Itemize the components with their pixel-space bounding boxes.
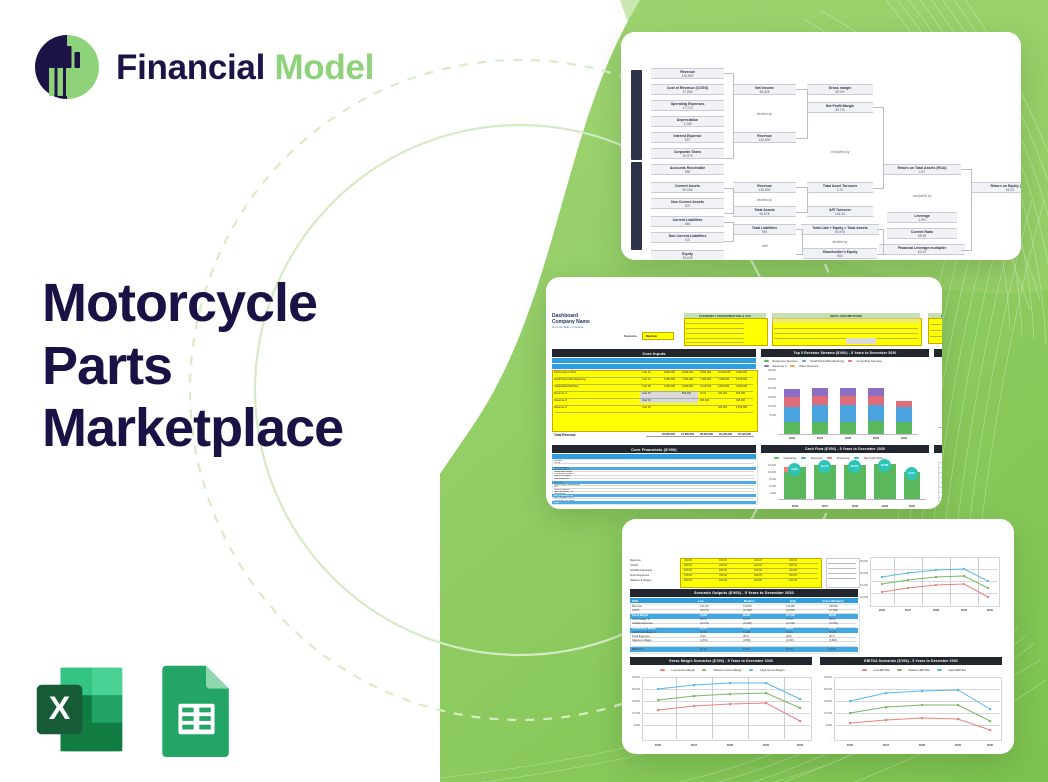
panel-title-core-financials: Core Financials ($'000): [552, 445, 756, 453]
legend-cash-flow: Operating Investing Financing Net Cash F…: [774, 456, 883, 460]
pie-chart-bars-logo-icon: [32, 32, 102, 102]
node-accounts-receivable: Accounts Receivable 948: [651, 164, 724, 175]
sheet-cell: 100.0%: [789, 564, 797, 567]
node-total-assets: Total Assets 50,576: [733, 206, 796, 217]
dupont-tree: Income Statement ($'000) Balance Sheet (…: [629, 64, 1015, 246]
node-gross-margin: Gross margin 65.0%: [807, 84, 873, 95]
sheet-cell: 57,188: [829, 631, 836, 634]
sheet-cell: 100.0%: [719, 569, 727, 572]
sheet-cell: (13,863): [829, 622, 838, 625]
sheet-cell: 75,700: [829, 644, 836, 647]
sheet-cell: 100.0%: [754, 559, 762, 562]
sheet-cell: (3,898): [829, 639, 837, 642]
sheet-cell: 100.0%: [754, 564, 762, 567]
sheet-cell: 75.4%: [786, 618, 793, 621]
sheet-cell: 8,500,000: [664, 371, 675, 374]
sheet-cell: 4,620,000: [736, 385, 747, 388]
sheet-cell: 57,710: [700, 627, 707, 630]
scenario-top-lines: [870, 557, 998, 605]
sheet-cell: 7,350,000: [682, 378, 693, 381]
legend-top5-1: Enterprise Services Small Parts Manufact…: [764, 359, 882, 363]
core-inputs-total-label: Total Revenue: [554, 433, 576, 437]
sheet-cell: (46,172): [700, 609, 709, 612]
dashboard-subtitle: Company Name: [552, 319, 590, 325]
sheet-cell: Revenue: [632, 605, 642, 608]
op-multiplied-by-1: multiplied by: [807, 150, 873, 154]
sheet-cell: 52.0%: [829, 648, 836, 651]
sheet-cell: (3,180): [786, 639, 794, 642]
sheet-cell: 9,000,000: [682, 371, 693, 374]
sheet-cell: Revenue 6: [554, 406, 567, 409]
connector-mid2: [796, 187, 808, 213]
sheet-cell: Performance Parts: [554, 371, 576, 374]
title-line-2: Parts: [42, 335, 442, 398]
sheet-cell: (837): [743, 635, 749, 638]
op-divided-by-2: divided by: [733, 198, 796, 202]
sheet-cell: 107,100: [786, 614, 795, 617]
sheet-cell: 65.0%: [829, 618, 836, 621]
sheet-cell: 184,100: [718, 392, 727, 395]
node-roe: Return on Equity (ROE) 61.03: [971, 182, 1021, 193]
panel-title-core-inputs: Core Inputs: [552, 349, 756, 357]
panel-title-payback: Investment Payback Chart ($'000) - 5 Yea…: [934, 445, 942, 453]
sheet-cell: 91,830: [786, 644, 793, 647]
sheet-cell: 88,920: [829, 614, 836, 617]
connector-assets: [724, 188, 734, 214]
sheet-cell: Fixed Expenses: [632, 635, 650, 638]
panel-title-profitability: Profitability ($'000) - 5 Years to Decem…: [934, 349, 942, 357]
sheet-cell: Collectibles/Vehicles: [554, 385, 579, 388]
sheet-cell: 100.0%: [789, 579, 797, 582]
connector-liab: [724, 222, 734, 242]
sheet-cell: 5,970,000: [736, 378, 747, 381]
dashboard-toc-link[interactable]: Go to the Table of Contents: [552, 326, 584, 329]
sheet-cell: 9,100: [700, 392, 706, 395]
sheet-cell: (47,880): [829, 609, 838, 612]
node-leverage: Leverage 1.9%: [887, 212, 957, 223]
sheet-cell: 100.0%: [684, 564, 692, 567]
sheet-cell: 75,700: [743, 644, 750, 647]
connector-right: [961, 169, 972, 251]
sheet-cell: 25,120,000: [738, 433, 751, 436]
dashboard-screenshot[interactable]: Dashboard Company Name Go to the Table o…: [546, 277, 942, 509]
legend-ebitda: Low EBITDA Medium EBITDA High EBITDA: [862, 668, 966, 672]
node-operating-expenses: Operating Expenses 17,714: [651, 100, 724, 111]
sheet-cell: 1,672,000: [736, 406, 747, 409]
sheet-cell: Year 06: [642, 385, 651, 388]
sheet-cell: EBITDA %: [632, 648, 644, 651]
core-inputs-year-header: [552, 358, 756, 363]
title-line-3: Marketplace: [42, 397, 442, 460]
brand-name-part2: Model: [274, 48, 374, 87]
profitability-percent-line: [934, 365, 942, 385]
sheet-cell: 100.0%: [754, 574, 762, 577]
node-total-liabilities: Total Liabilities 949: [733, 224, 796, 235]
sheet-cell: Small Parts Manufacturing: [554, 378, 586, 381]
sheet-cell: 100.0%: [684, 569, 692, 572]
legend-top5-2: Revenue 4 Other Revenue: [764, 364, 819, 368]
file-format-icons: X: [32, 662, 244, 757]
brand-name: Financial Model: [116, 50, 374, 85]
op-add: Add: [733, 244, 796, 248]
brand-name-part1: Financial: [116, 48, 274, 87]
sheet-cell: 88,100: [786, 627, 793, 630]
sheet-cell: 9,500,000: [700, 371, 711, 374]
sheet-cell: (13,940): [786, 622, 795, 625]
op-divided-by-3: divided by: [807, 240, 873, 244]
sheet-cell: 131,130: [700, 605, 709, 608]
sheet-cell: (47,880): [743, 609, 752, 612]
sheet-cell: 106,100: [700, 399, 709, 402]
node-interest-expense: Interest Expense 537: [651, 132, 724, 143]
sheet-cell: 100.0%: [719, 574, 727, 577]
sheet-cell: Contribution Margin: [632, 627, 656, 630]
sheet-cell: 136,800: [743, 605, 752, 608]
sheet-cell: 9,000,000: [736, 371, 747, 374]
legend-gross-margin: Low Gross Margin Medium Gross Margin Hig…: [660, 668, 785, 672]
poster-canvas: Financial Model Motorcycle Parts Marketp…: [0, 0, 1048, 782]
node-non-current-assets: Non Current Assets 570: [651, 198, 724, 209]
sheet-cell: 10,000,000: [718, 371, 731, 374]
sheet-cell: Cash: [554, 502, 559, 504]
panel-title-ebitda-scenarios: EBITDA Scenarios ($'000) - 5 Years to De…: [820, 657, 1002, 665]
connector-mid3: [796, 229, 803, 255]
op-multiplied-by-2: multiplied by: [883, 194, 961, 198]
sheet-cell: 28,200,000: [700, 433, 713, 436]
sheet-cell: 142,380: [786, 605, 795, 608]
sheet-cell: 40.1%: [700, 648, 707, 651]
sheet-cell: 27,900,000: [681, 433, 694, 436]
microsoft-excel-icon[interactable]: X: [32, 662, 127, 757]
sheet-cell: 29,100,000: [719, 433, 732, 436]
sheet-cell: 75,700: [829, 627, 836, 630]
node-current-assets: Current Assets 50,006: [651, 182, 724, 193]
sheet-cell: 52,305: [700, 644, 707, 647]
sheet-cell: 100.0%: [789, 559, 797, 562]
sheet-cell: 72,804: [700, 614, 707, 617]
sheet-cell: (13,863): [743, 622, 752, 625]
node-financial-leverage-multiplier: Financial Leverage multiplier 63.22: [879, 244, 965, 255]
sheet-cell: 100.0%: [719, 579, 727, 582]
node-equity: Equity 49,628: [651, 250, 724, 260]
node-current-liabilities: Current Liabilities 848: [651, 216, 724, 227]
sheet-cell: 7,290,000: [718, 378, 729, 381]
sheet-cell: 320,000: [718, 406, 727, 409]
sheet-cell: 100.0%: [684, 574, 692, 577]
sheet-cell: 75,700: [743, 627, 750, 630]
sheet-cell: 502,000: [682, 392, 691, 395]
band-balance-sheet: Balance Sheet ($'000): [631, 162, 642, 250]
node-total-liab-equity: Total Liab + Equity = Total Assets 50,57…: [801, 224, 879, 235]
sheet-cell: 88,920: [743, 614, 750, 617]
core-financials-header-row: [552, 454, 756, 459]
sheet-cell: 66,100: [786, 631, 793, 634]
sheet-cell: 100.0%: [684, 579, 692, 582]
brand-logo: Financial Model: [32, 32, 374, 102]
sheet-cell: (837): [829, 635, 835, 638]
connector-ratio2: [877, 229, 884, 255]
sheet-cell: Revenue 4: [554, 392, 567, 395]
node-roa: Return on Total Assets (ROA) 0.97: [883, 164, 961, 175]
sheet-cell: Contribution Margin %: [632, 631, 657, 634]
band-income-statement: Income Statement ($'000): [631, 70, 642, 160]
node-revenue-mid2: Revenue 136,800: [733, 182, 796, 193]
svg-text:X: X: [49, 690, 71, 726]
sheet-cell: (700): [700, 635, 706, 638]
connector-ratio1: [873, 107, 884, 189]
page-title: Motorcycle Parts Marketplace: [42, 272, 442, 460]
sheet-cell: Gross Margin: [632, 614, 648, 617]
connector-income: [724, 73, 734, 159]
node-corporate-taxes: Corporate Taxes 20,576: [651, 148, 724, 159]
sheet-cell: 136,800: [829, 605, 838, 608]
node-revenue-mid: Revenue 136,800: [733, 132, 796, 143]
sheet-cell: Revenue 5: [554, 399, 567, 402]
node-net-income: Net Income 48,828: [733, 84, 796, 95]
sheet-cell: Year 10: [642, 406, 651, 409]
panel-title-top5: Top 5 Revenue Streams ($'000) - 5 Years …: [761, 349, 929, 357]
node-non-current-liabilities: Non Current Liabilities 101: [651, 232, 724, 243]
sheet-cell: 58.2%: [700, 618, 707, 621]
node-depreciation: Depreciation 1,265: [651, 116, 724, 127]
working-capital-values[interactable]: [928, 318, 942, 344]
sheet-cell: 184,000: [736, 392, 745, 395]
op-divided-by-1: divided by: [733, 112, 796, 116]
title-line-1: Motorcycle: [42, 272, 442, 335]
scenario-analysis-screenshot[interactable]: Revenue COGS Variable Expenses Fixed Exp…: [622, 519, 1014, 754]
sheet-cell: Year 10: [642, 371, 651, 374]
node-revenue: Revenue 136,800: [651, 68, 724, 79]
node-ar-turnover: A/R Turnover 144.24: [807, 206, 873, 217]
node-net-profit-margin: Net Profit Margin 35.7%: [807, 102, 873, 113]
sheet-cell: 4,560,000: [664, 385, 675, 388]
sheet-cell: 4,060,000: [682, 385, 693, 388]
node-current-ratio: Current Ratio 58.98: [887, 228, 957, 239]
sheet-cell: 57,188: [743, 631, 750, 634]
sheet-cell: (4,849): [700, 639, 708, 642]
node-cogs: Cost of Revenue (COGS) 47,880: [651, 84, 724, 95]
panel-title-cash-flow: Cash Flow ($'000) - 5 Years to December …: [761, 445, 929, 453]
sheet-cell: Variable Expenses: [632, 622, 653, 625]
ebitda-lines: [834, 677, 1000, 739]
scenario-value: Medium: [646, 334, 657, 338]
payback-line: [938, 462, 942, 500]
sheet-cell: 65.0%: [743, 618, 750, 621]
sheet-cell: Salaries & Wages: [632, 639, 652, 642]
sheet-cell: 67.0%: [786, 648, 793, 651]
dupont-analysis-screenshot[interactable]: Income Statement ($'000) Balance Sheet (…: [621, 32, 1021, 260]
node-shareholders-equity: Shareholder's Equity 800: [803, 248, 877, 259]
scenario-label: Scenario: [624, 334, 637, 338]
sheet-cell: 52.0%: [743, 648, 750, 651]
sheet-cell: 26,000,000: [662, 433, 675, 436]
connector-mid1: [796, 89, 808, 139]
gross-margin-lines: [642, 677, 810, 739]
sheet-cell: COGS: [632, 609, 639, 612]
sheet-cell: (49,555): [786, 609, 795, 612]
sheet-cell: (13,130): [700, 622, 709, 625]
sheet-cell: 5,950,000: [664, 378, 675, 381]
sheet-cell: Gross Margin %: [632, 618, 650, 621]
sheet-cell: 100.0%: [789, 569, 797, 572]
core-inputs-col-header: [552, 364, 756, 369]
google-sheets-icon[interactable]: [149, 662, 244, 757]
panel-title-gross-margin-scenarios: Gross Margin Scenarios ($'000) - 5 Years…: [630, 657, 812, 665]
sheet-cell: Year 07: [642, 392, 651, 395]
node-total-asset-turnover: Total Asset Turnover 2.70: [807, 182, 873, 193]
sheet-cell: (940): [786, 635, 792, 638]
sheet-cell: 100.0%: [789, 574, 797, 577]
sheet-cell: 4,609,000: [718, 385, 729, 388]
sheet-cell: Year 12: [642, 378, 651, 381]
sheet-cell: Year 10: [642, 399, 651, 402]
sheet-cell: 100.0%: [719, 564, 727, 567]
panel-title-scenario-outputs: Scenario Outputs ($'000) - 5 Years to De…: [630, 589, 858, 597]
sheet-cell: 100.0%: [754, 569, 762, 572]
sheet-cell: 100.0%: [754, 579, 762, 582]
sheet-cell: EBITDA: [632, 644, 641, 647]
sheet-cell: (3,898): [743, 639, 751, 642]
sheet-cell: 7,350,000: [700, 378, 711, 381]
sheet-cell: 4,100,100: [700, 385, 711, 388]
sheet-cell: 100.0%: [684, 559, 692, 562]
sheet-cell: 48,198: [700, 631, 707, 634]
sheet-cell: 100.0%: [719, 559, 727, 562]
sheet-cell: 340,000: [736, 399, 745, 402]
